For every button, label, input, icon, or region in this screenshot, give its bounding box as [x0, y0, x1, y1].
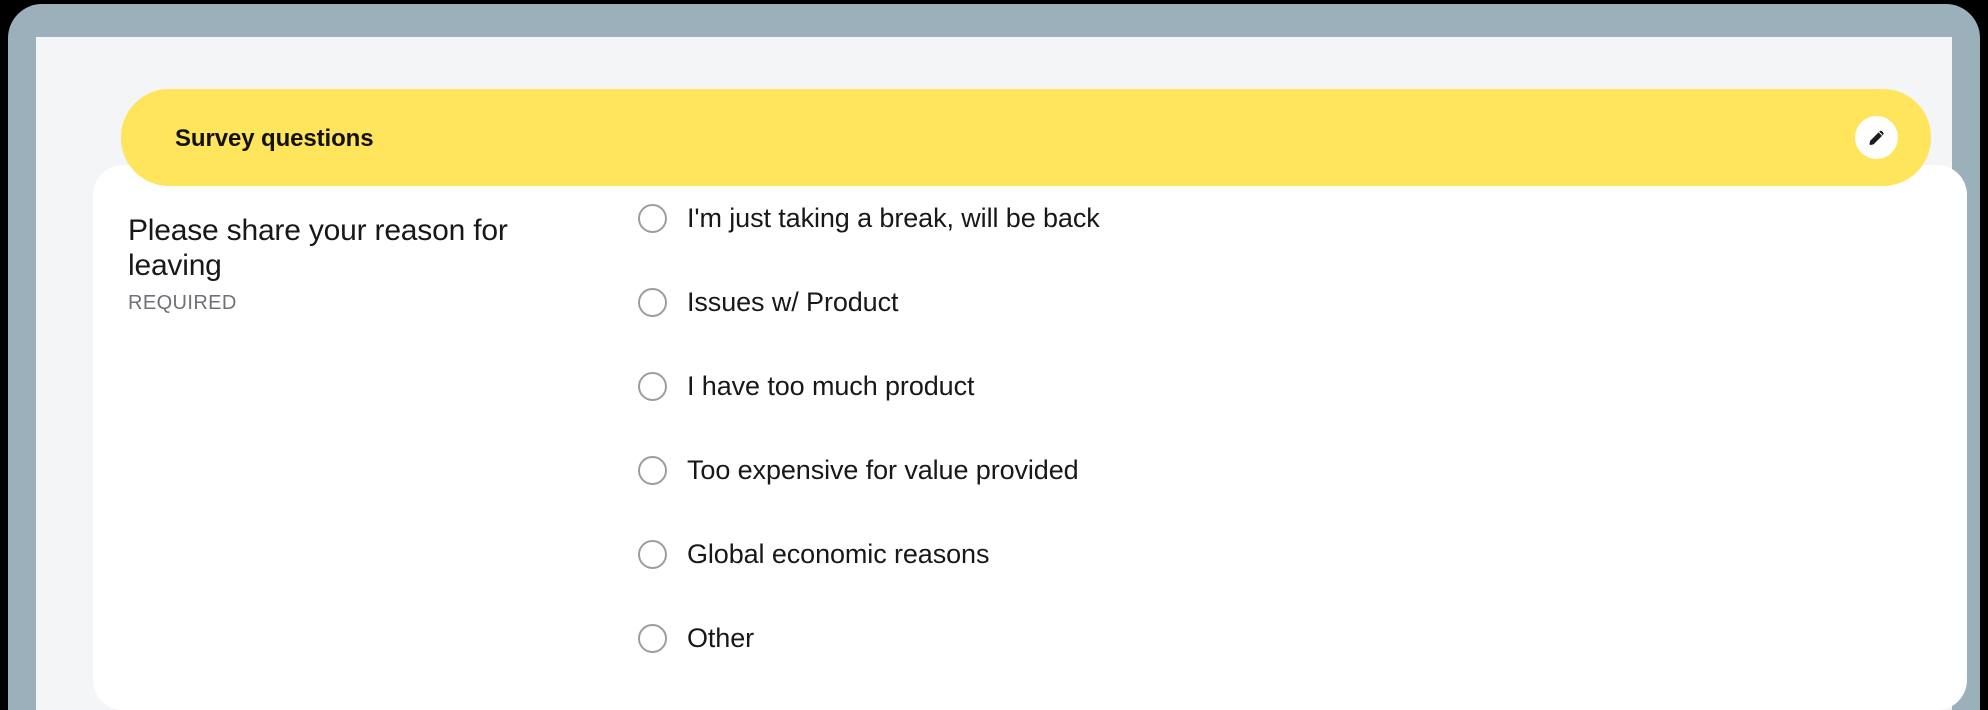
device-frame: Please share your reason for leaving REQ… — [8, 4, 1980, 710]
question-title: Please share your reason for leaving — [128, 214, 598, 283]
radio-option-list: I'm just taking a break, will be back Is… — [638, 185, 1838, 689]
radio-circle-icon[interactable] — [638, 624, 667, 653]
radio-circle-icon[interactable] — [638, 204, 667, 233]
radio-circle-icon[interactable] — [638, 540, 667, 569]
radio-option-product-issues[interactable]: Issues w/ Product — [638, 269, 1838, 335]
question-required-badge: REQUIRED — [128, 292, 598, 315]
radio-option-other[interactable]: Other — [638, 605, 1838, 671]
radio-circle-icon[interactable] — [638, 372, 667, 401]
survey-card: Please share your reason for leaving REQ… — [93, 165, 1967, 710]
radio-option-label: Global economic reasons — [687, 541, 989, 568]
page-backdrop: Please share your reason for leaving REQ… — [36, 37, 1952, 710]
radio-option-break[interactable]: I'm just taking a break, will be back — [638, 185, 1838, 251]
radio-circle-icon[interactable] — [638, 288, 667, 317]
question-prompt-column: Please share your reason for leaving REQ… — [128, 214, 598, 315]
radio-option-label: Other — [687, 625, 754, 652]
survey-header-banner: Survey questions — [121, 89, 1931, 186]
radio-option-label: Issues w/ Product — [687, 289, 898, 316]
radio-circle-icon[interactable] — [638, 456, 667, 485]
survey-header-title: Survey questions — [175, 125, 373, 153]
radio-option-label: I'm just taking a break, will be back — [687, 205, 1100, 232]
edit-survey-button[interactable] — [1855, 116, 1898, 159]
radio-option-too-much-product[interactable]: I have too much product — [638, 353, 1838, 419]
survey-question-block: Please share your reason for leaving REQ… — [93, 165, 1967, 710]
radio-option-global-economic[interactable]: Global economic reasons — [638, 521, 1838, 587]
radio-option-too-expensive[interactable]: Too expensive for value provided — [638, 437, 1838, 503]
pencil-icon — [1866, 127, 1887, 148]
radio-option-label: Too expensive for value provided — [687, 457, 1079, 484]
radio-option-label: I have too much product — [687, 373, 974, 400]
